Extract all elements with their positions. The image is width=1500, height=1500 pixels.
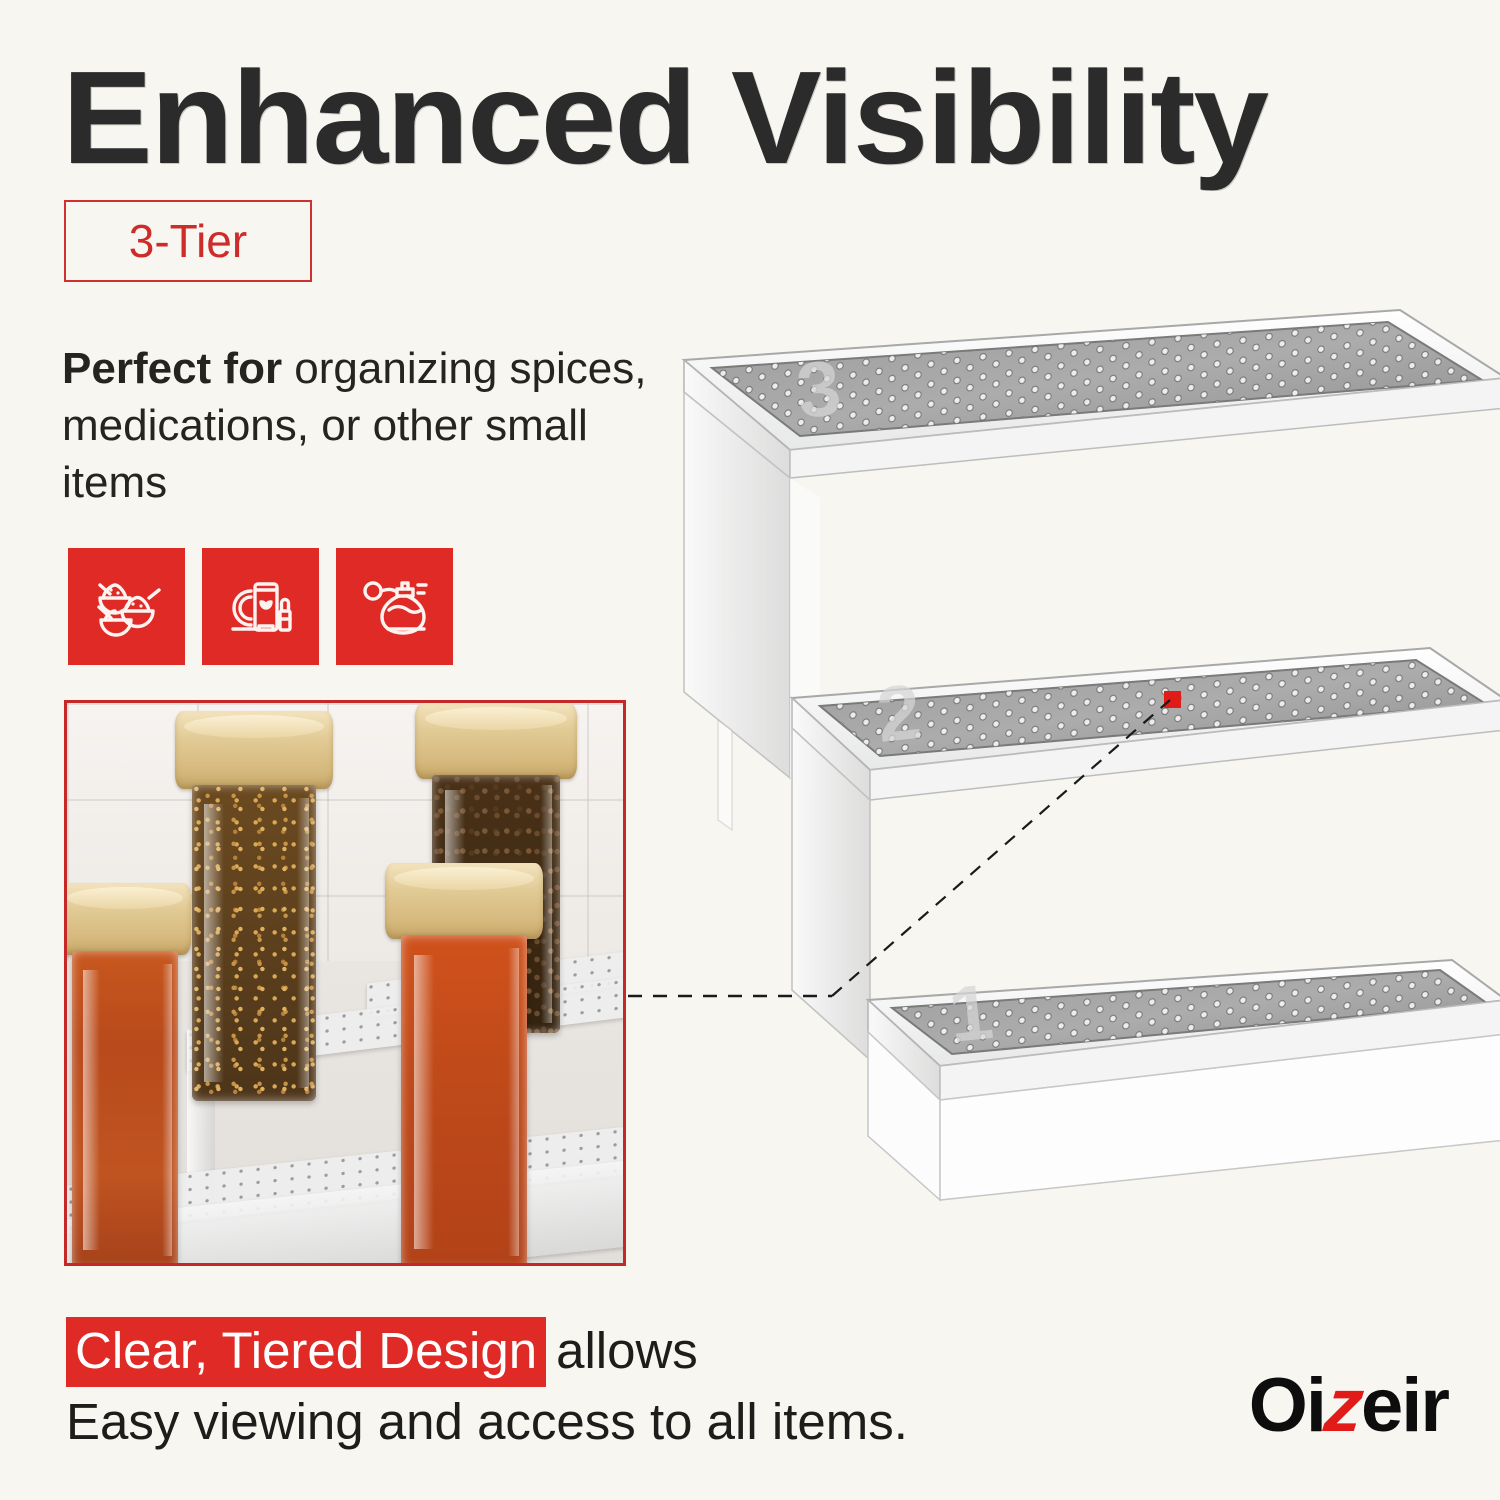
lead-bold-prefix: Perfect for bbox=[62, 344, 282, 393]
tier-number-3: 3 bbox=[793, 343, 845, 435]
photo-jar-chili bbox=[385, 863, 543, 1263]
caption-line-2: Easy viewing and access to all items. bbox=[66, 1396, 1066, 1447]
brand-logo: Oizeir bbox=[1249, 1368, 1448, 1444]
use-case-icon-row bbox=[68, 548, 453, 665]
caption-highlight: Clear, Tiered Design bbox=[66, 1317, 546, 1387]
photo-jar-sesame bbox=[175, 711, 333, 1101]
use-case-tile-perfume bbox=[336, 548, 453, 665]
lead-paragraph: Perfect for organizing spices, medicatio… bbox=[62, 340, 662, 512]
cosmetics-icon bbox=[221, 567, 301, 647]
use-case-tile-cosmetics bbox=[202, 548, 319, 665]
spice-bowls-icon bbox=[87, 567, 167, 647]
product-tier-1: 1 bbox=[868, 960, 1500, 1200]
bottom-caption: Clear, Tiered Designallows Easy viewing … bbox=[66, 1325, 1066, 1447]
use-case-tile-spices bbox=[68, 548, 185, 665]
product-photo-image bbox=[67, 703, 623, 1263]
logo-part-1: Oi bbox=[1249, 1363, 1325, 1448]
caption-after-highlight: allows bbox=[556, 1322, 698, 1379]
tier-badge-label: 3-Tier bbox=[129, 214, 247, 268]
perfume-bottle-icon bbox=[355, 567, 435, 647]
product-wall-notch bbox=[718, 720, 732, 830]
photo-jar-paprika bbox=[67, 883, 191, 1263]
tier-badge: 3-Tier bbox=[64, 200, 312, 282]
product-photo-inset bbox=[64, 700, 626, 1266]
tier-number-2: 2 bbox=[873, 667, 925, 759]
tier-number-1: 1 bbox=[945, 967, 997, 1059]
caption-line-1: Clear, Tiered Designallows bbox=[66, 1325, 1066, 1376]
logo-part-2: eir bbox=[1361, 1363, 1448, 1448]
infographic-page: Enhanced Visibility 3-Tier Perfect for o… bbox=[0, 0, 1500, 1500]
page-title: Enhanced Visibility bbox=[62, 52, 1494, 184]
product-tier-2: 2 bbox=[792, 648, 1500, 800]
product-tier-3: 3 bbox=[684, 310, 1500, 478]
product-hero-image: 3 2 bbox=[640, 300, 1500, 1310]
callout-marker-square bbox=[1164, 691, 1181, 708]
logo-accent-z: z bbox=[1321, 1368, 1365, 1444]
